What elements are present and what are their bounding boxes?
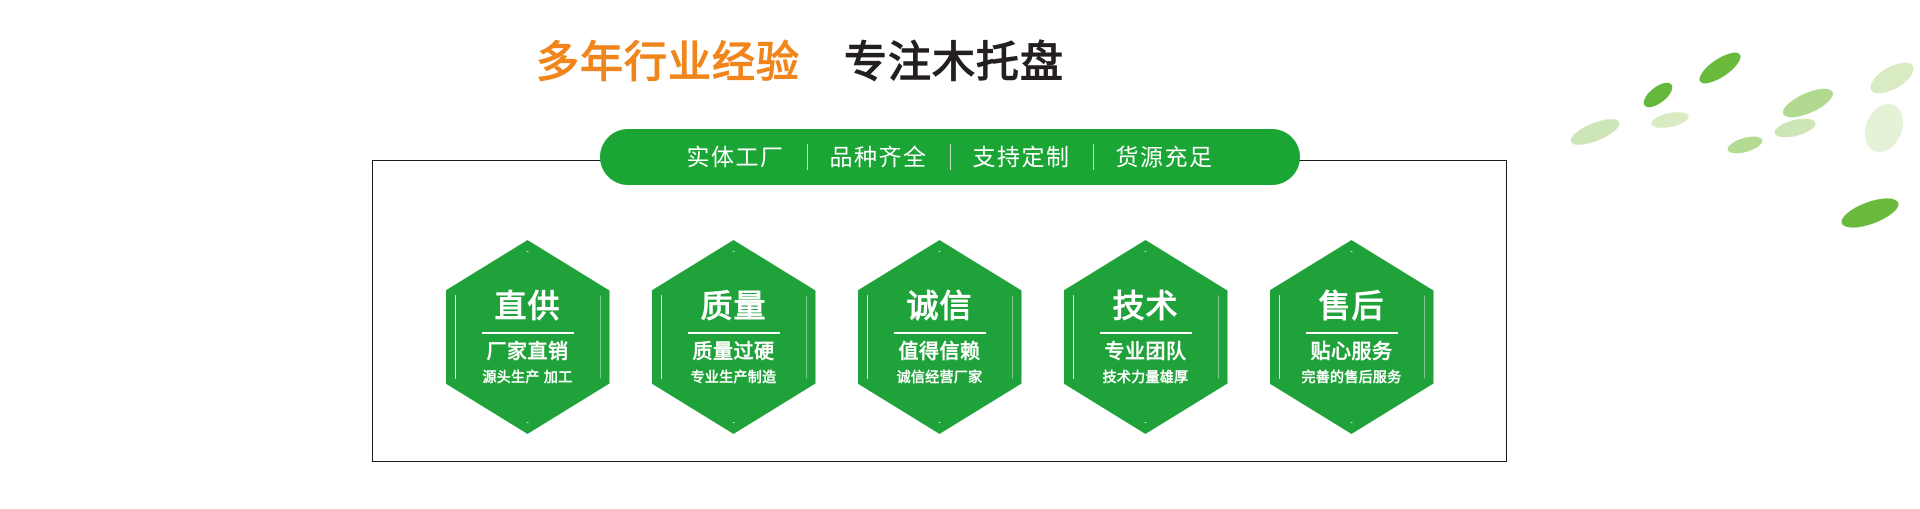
feature-tag-0[interactable]: 实体工厂 [665, 144, 807, 170]
hexagon-badge-row: 直供 厂家直销 源头生产 加工 质量 质量过硬 专业生产制造 诚信 值得信赖 [372, 240, 1507, 434]
hexagon-note: 完善的售后服务 [1301, 367, 1401, 387]
hexagon-content: 质量 质量过硬 专业生产制造 [652, 287, 816, 387]
feature-tag-pill: 实体工厂 品种齐全 支持定制 货源充足 [600, 129, 1300, 185]
headline-dark: 专注木托盘 [844, 39, 1064, 87]
hexagon-note: 诚信经营厂家 [897, 367, 983, 387]
feature-tag-3[interactable]: 货源充足 [1094, 144, 1236, 170]
hexagon-content: 技术 专业团队 技术力量雄厚 [1064, 287, 1228, 387]
promo-banner: 多年行业经验 专注木托盘 实体工厂 品种齐全 支持定制 货源充足 直供 厂家直销… [0, 0, 1920, 509]
hexagon-subtitle: 质量过硬 [693, 340, 775, 365]
hexagon-subtitle: 专业团队 [1105, 340, 1187, 365]
hexagon-title: 直供 [494, 287, 560, 325]
feature-tag-2[interactable]: 支持定制 [951, 144, 1093, 170]
hexagon-note: 技术力量雄厚 [1103, 367, 1189, 387]
feature-tag-list: 实体工厂 品种齐全 支持定制 货源充足 [665, 144, 1236, 170]
divider [688, 332, 780, 334]
hexagon-title: 质量 [700, 287, 766, 325]
hexagon-note: 源头生产 加工 [483, 367, 573, 387]
hexagon-badge-1[interactable]: 质量 质量过硬 专业生产制造 [652, 240, 816, 434]
hexagon-subtitle: 值得信赖 [899, 340, 981, 365]
hexagon-badge-2[interactable]: 诚信 值得信赖 诚信经营厂家 [858, 240, 1022, 434]
page-title: 多年行业经验 专注木托盘 [0, 36, 1600, 90]
hexagon-subtitle: 厂家直销 [487, 340, 569, 365]
hexagon-title: 诚信 [906, 287, 972, 325]
hexagon-title: 售后 [1318, 287, 1384, 325]
hexagon-badge-4[interactable]: 售后 贴心服务 完善的售后服务 [1270, 240, 1434, 434]
divider [894, 332, 986, 334]
headline-accent: 多年行业经验 [536, 39, 800, 87]
hexagon-content: 售后 贴心服务 完善的售后服务 [1270, 287, 1434, 387]
hexagon-badge-0[interactable]: 直供 厂家直销 源头生产 加工 [446, 240, 610, 434]
hexagon-subtitle: 贴心服务 [1311, 340, 1393, 365]
divider [482, 332, 574, 334]
divider [1100, 332, 1192, 334]
hexagon-title: 技术 [1112, 287, 1178, 325]
hexagon-badge-3[interactable]: 技术 专业团队 技术力量雄厚 [1064, 240, 1228, 434]
feature-tag-1[interactable]: 品种齐全 [808, 144, 950, 170]
hexagon-content: 直供 厂家直销 源头生产 加工 [446, 287, 610, 387]
divider [1306, 332, 1398, 334]
hexagon-note: 专业生产制造 [691, 367, 777, 387]
hexagon-content: 诚信 值得信赖 诚信经营厂家 [858, 287, 1022, 387]
